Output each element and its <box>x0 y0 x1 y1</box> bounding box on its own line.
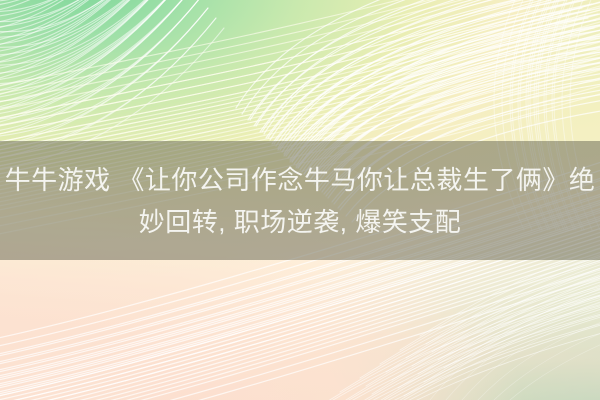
caption-overlay-band: 牛牛游戏 《让你公司作念牛马你让总裁生了俩》绝 妙回转, 职场逆袭, 爆笑支配 <box>0 141 600 260</box>
banner-image: 牛牛游戏 《让你公司作念牛马你让总裁生了俩》绝 妙回转, 职场逆袭, 爆笑支配 <box>0 0 600 400</box>
caption-line-2: 妙回转, 职场逆袭, 爆笑支配 <box>139 202 461 242</box>
caption-line-1: 牛牛游戏 《让你公司作念牛马你让总裁生了俩》绝 <box>5 160 596 200</box>
